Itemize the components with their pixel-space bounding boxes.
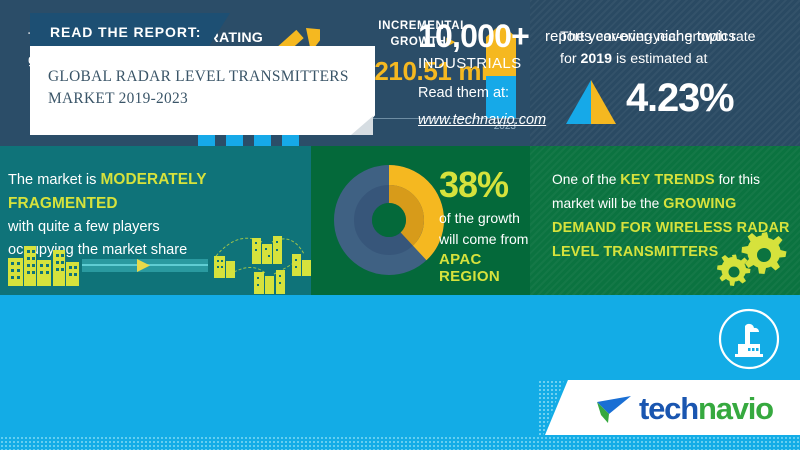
industrials-label: INDUSTRIALS: [418, 55, 522, 72]
trend-seg5: GROWING: [663, 196, 736, 212]
yoy-line2-post: is estimated at: [612, 51, 707, 67]
read-them-at-label: Read them at:: [418, 85, 509, 101]
apac-subtext: of the growth will come from: [439, 208, 535, 250]
reports-count-caption: reports covering niche topics: [545, 28, 736, 45]
logo-text: technavio: [639, 391, 773, 427]
paper-plane-icon: [595, 393, 635, 425]
apac-region-label: APAC REGION: [439, 251, 530, 285]
fragmented-buildings-icon: [200, 228, 312, 294]
yoy-growth-value: 4.23%: [626, 76, 733, 121]
trend-seg7: LEVEL TRANSMITTERS: [552, 244, 718, 260]
market-fragmentation-panel: The market is MODERATELY FRAGMENTED with…: [0, 146, 311, 295]
technavio-url-link[interactable]: www.technavio.com: [418, 112, 546, 128]
logo-text-navio: navio: [698, 391, 773, 426]
yoy-growth-panel: The year-over-year growth rate for 2019 …: [530, 0, 800, 146]
apac-sub-line2: will come from: [439, 231, 528, 247]
footer-dot-band: [0, 436, 800, 450]
reports-count: 10,000+: [418, 18, 529, 55]
apac-growth-donut: [333, 164, 445, 276]
buildings-icon: [8, 240, 80, 286]
gears-icon: [716, 229, 788, 289]
report-title-line1: GLOBAL RADAR LEVEL TRANSMITTERS: [48, 68, 349, 85]
infographic-root: The market will be ACCELERATING growing …: [0, 0, 800, 450]
apac-sub-line1: of the growth: [439, 210, 520, 226]
apac-share-panel: 38% of the growth will come from APAC RE…: [311, 146, 530, 295]
report-card[interactable]: GLOBAL RADAR LEVEL TRANSMITTERS MARKET 2…: [30, 46, 375, 135]
trend-seg4: market will be the: [552, 196, 663, 211]
read-the-report-banner: READ THE REPORT:: [30, 13, 230, 51]
report-title-line2: MARKET 2019-2023: [48, 90, 188, 107]
trend-seg2: KEY TRENDS: [620, 172, 715, 188]
fragmentation-track: [82, 256, 208, 276]
frag-line2: with quite a few players: [8, 219, 160, 235]
factory-icon: [718, 308, 780, 370]
yoy-year: 2019: [581, 51, 613, 67]
frag-line1-pre: The market is: [8, 172, 100, 188]
trend-seg3: for this: [715, 172, 760, 187]
logo-text-tech: tech: [639, 391, 698, 426]
apac-percent: 38%: [439, 164, 508, 206]
triangle-up-icon: [566, 80, 616, 124]
yoy-line2-pre: for: [560, 51, 581, 67]
report-title: GLOBAL RADAR LEVEL TRANSMITTERS MARKET 2…: [48, 66, 358, 110]
trend-seg1: One of the: [552, 172, 620, 187]
technavio-logo[interactable]: technavio: [595, 391, 773, 427]
middle-row: The market is MODERATELY FRAGMENTED with…: [0, 146, 800, 295]
key-trends-panel: One of the KEY TRENDS for this market wi…: [530, 146, 800, 295]
